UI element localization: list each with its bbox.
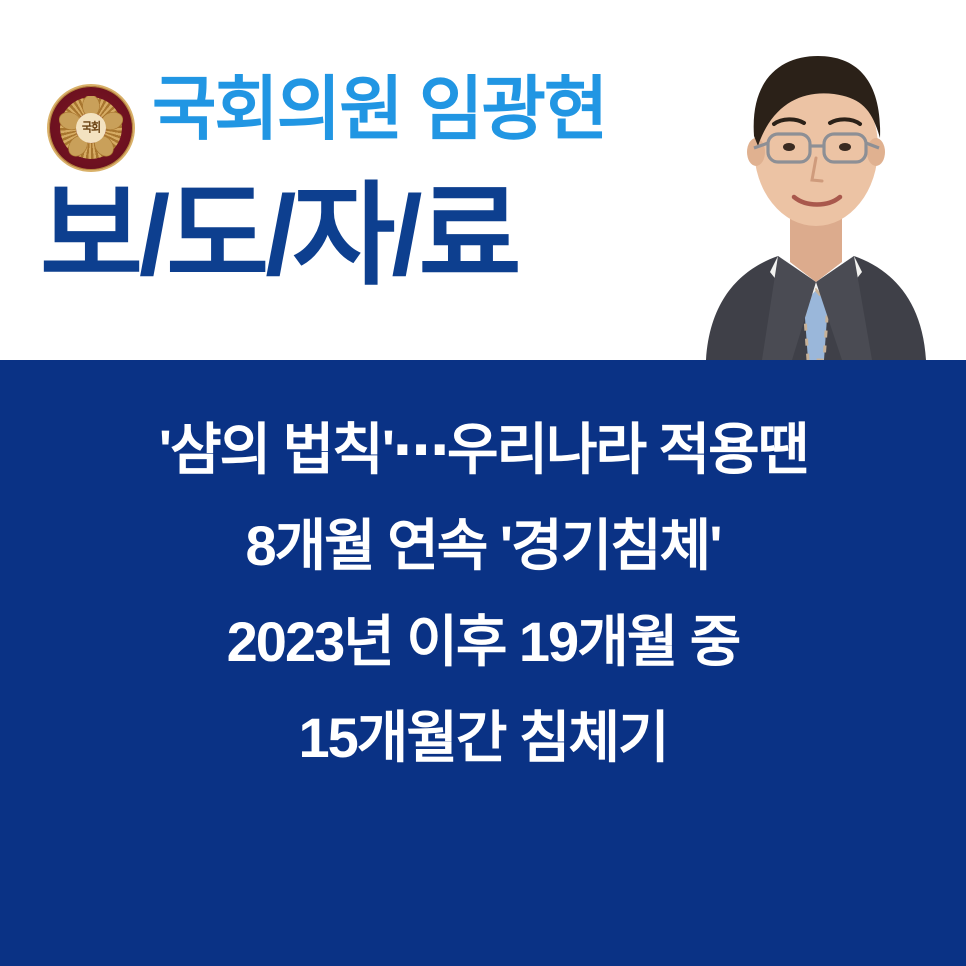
headline-block: '샴의 법칙'⋯우리나라 적용땐 8개월 연속 '경기침체' 2023년 이후 …	[0, 402, 966, 786]
emblem-core-label: 국회	[82, 122, 100, 135]
headline-line-3: 2023년 이후 19개월 중	[0, 594, 966, 690]
card-header: 국회 국회의원 임광현 보/도/자/료	[0, 0, 966, 360]
headline-line-1: '샴의 법칙'⋯우리나라 적용땐	[0, 402, 966, 498]
card-body: '샴의 법칙'⋯우리나라 적용땐 8개월 연속 '경기침체' 2023년 이후 …	[0, 360, 966, 966]
headline-line-4: 15개월간 침체기	[0, 690, 966, 786]
portrait-photo	[666, 0, 966, 360]
press-release-card: 국회 국회의원 임광현 보/도/자/료	[0, 0, 966, 966]
national-assembly-emblem-icon: 국회	[47, 84, 135, 172]
emblem-core: 국회	[76, 113, 106, 143]
headline-line-2: 8개월 연속 '경기침체'	[0, 498, 966, 594]
header-title-primary: 국회의원 임광현	[152, 74, 606, 144]
portrait-illustration-icon	[666, 0, 966, 360]
header-title-secondary: 보/도/자/료	[40, 176, 518, 297]
